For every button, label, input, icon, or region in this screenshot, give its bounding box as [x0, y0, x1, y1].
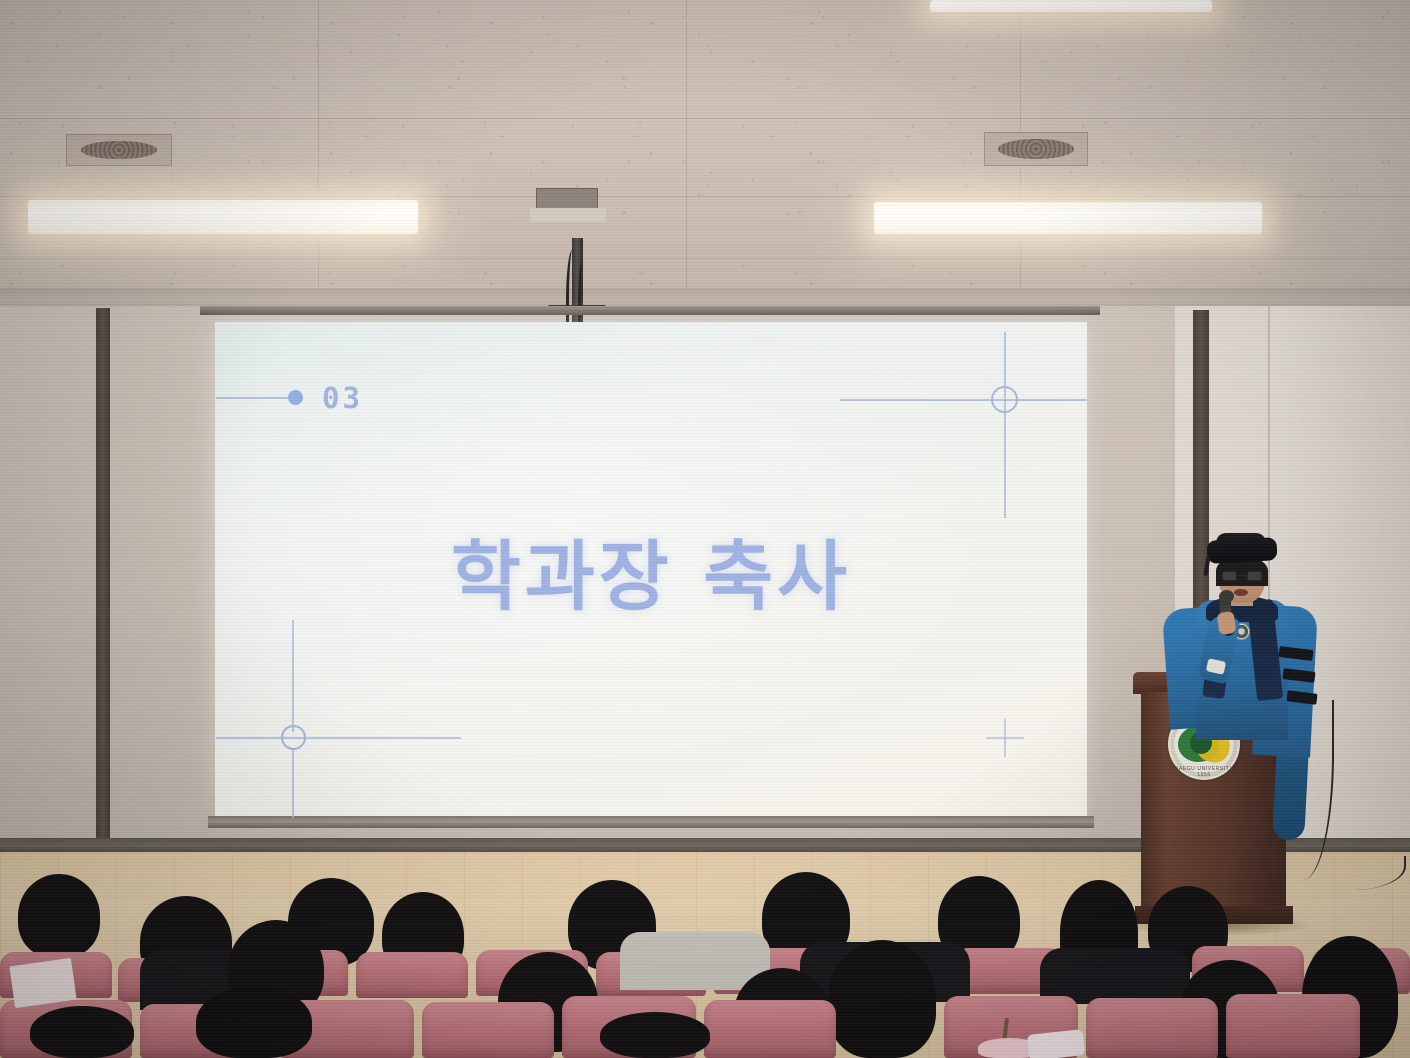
- glasses-bridge: [1237, 575, 1247, 576]
- audience-head: [18, 874, 100, 958]
- audience-head-long-hair: [828, 940, 936, 1058]
- ceiling-tile-seam: [0, 118, 1410, 119]
- dot-marker-icon: [288, 390, 303, 405]
- auditorium-seat: [356, 952, 468, 998]
- slide-rule-bottom: [216, 737, 461, 739]
- glasses-icon: [1222, 571, 1262, 581]
- slide-rule-vertical-left-lower: [292, 748, 294, 818]
- ceiling-light-fixture: [874, 202, 1262, 234]
- program-sheet: [9, 958, 76, 1008]
- ceiling-vent: [984, 132, 1088, 166]
- slide-rule-top: [840, 399, 1087, 401]
- glasses-lens-left: [1222, 571, 1237, 581]
- registration-mark-top-right-icon: [991, 386, 1018, 413]
- ceiling-light-fixture: [930, 0, 1212, 12]
- ceiling-texture: [0, 0, 1410, 296]
- audience-head-long-hair: [196, 986, 312, 1058]
- ceiling-light-fixture: [28, 200, 418, 234]
- projector-ceiling-box: [536, 188, 598, 210]
- ceiling-tile-seam: [686, 0, 687, 296]
- slide-title: 학과장 축사: [215, 515, 1087, 625]
- registration-mark-bottom-left-icon: [281, 725, 306, 750]
- slide-rule-vertical-mid: [1004, 400, 1006, 518]
- audience-head: [600, 1012, 710, 1058]
- screen-roller-bar: [200, 306, 1100, 315]
- auditorium-photo: 03 학과장 축사 대구대학교 DAEGU UNIVERSITY 1956: [0, 0, 1410, 1058]
- doctoral-tam-icon: [1206, 537, 1277, 564]
- ceiling: [0, 0, 1410, 296]
- screen-bottom-bar: [208, 816, 1094, 828]
- ceiling-tile-seam: [0, 258, 1410, 259]
- auditorium-seat: [1226, 994, 1360, 1058]
- glasses-lens-right: [1247, 571, 1262, 581]
- curtain-edge-left: [96, 308, 110, 844]
- auditorium-seat: [704, 1000, 836, 1058]
- slide-rule-vertical-left: [292, 620, 294, 732]
- ceiling-tile-seam: [0, 196, 1410, 197]
- speaker-hand: [1217, 611, 1237, 635]
- slide-lead-line: [216, 397, 292, 399]
- slide-section-number: 03: [322, 381, 363, 415]
- seal-outer-text: DAEGU UNIVERSITY 1956: [1168, 766, 1240, 778]
- auditorium-seat: [1086, 998, 1218, 1058]
- audience-head: [30, 1006, 134, 1058]
- projector-ceiling-plate: [530, 208, 606, 222]
- auditorium-seat: [422, 1002, 554, 1058]
- ceiling-vent: [66, 134, 172, 166]
- plus-mark-icon: [1004, 719, 1006, 757]
- flower-bouquet-wrap: [1027, 1029, 1085, 1058]
- ceiling-tile-seam: [318, 0, 319, 296]
- speaker-mouth: [1234, 589, 1248, 596]
